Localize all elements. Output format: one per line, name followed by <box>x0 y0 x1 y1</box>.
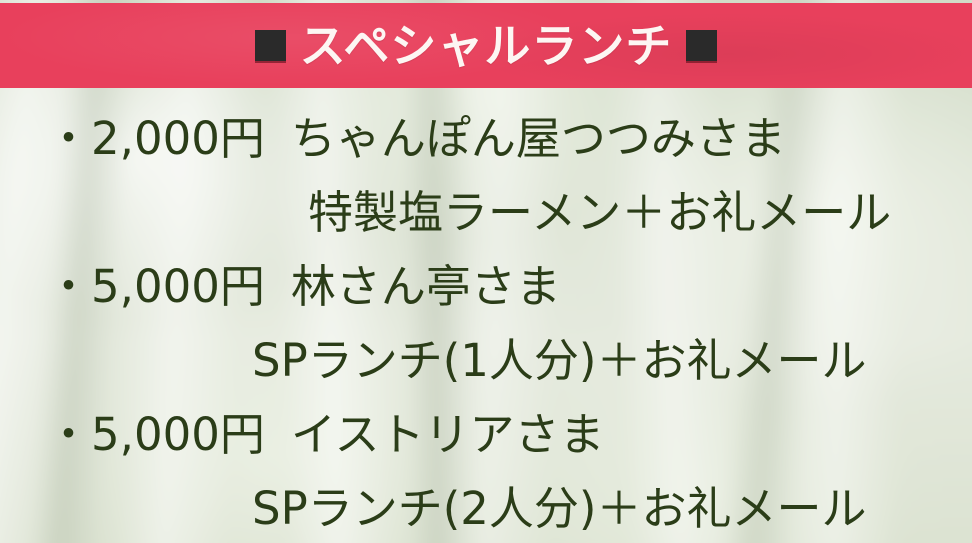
page-title: スペシャルランチ <box>300 23 673 69</box>
entry-3-reward: SPランチ(2人分)＋お礼メール <box>252 482 866 535</box>
title-banner: スペシャルランチ <box>0 3 972 88</box>
slide-canvas: スペシャルランチ ・2,000円ちゃんぽん屋つつみさま 特製塩ラーメン＋お礼メー… <box>0 0 972 543</box>
entry-2-amount-line: ・5,000円林さん亭さま <box>0 250 972 324</box>
entry-1-reward-line: 特製塩ラーメン＋お礼メール <box>0 176 972 250</box>
entry-2-bullet: ・ <box>46 260 91 313</box>
entry-2-amount: 5,000円 <box>91 260 265 313</box>
entry-1-bullet: ・ <box>46 112 91 165</box>
entry-3-amount: 5,000円 <box>91 408 265 461</box>
entry-2-reward: SPランチ(1人分)＋お礼メール <box>252 334 866 387</box>
entry-3-bullet: ・ <box>46 408 91 461</box>
entry-3-amount-line: ・5,000円イストリアさま <box>0 398 972 472</box>
entry-2-reward-line: SPランチ(1人分)＋お礼メール <box>0 324 972 398</box>
entry-3-reward-line: SPランチ(2人分)＋お礼メール <box>0 472 972 543</box>
sponsor-list: ・2,000円ちゃんぽん屋つつみさま 特製塩ラーメン＋お礼メール ・5,000円… <box>0 88 972 543</box>
entry-1-amount: 2,000円 <box>91 112 265 165</box>
title-text-group: スペシャルランチ <box>255 23 718 69</box>
entry-1-reward: 特製塩ラーメン＋お礼メール <box>308 186 891 239</box>
entry-2-sponsor: 林さん亭さま <box>291 260 561 313</box>
black-square-left-icon <box>255 30 286 61</box>
entry-1-amount-line: ・2,000円ちゃんぽん屋つつみさま <box>0 102 972 176</box>
black-square-right-icon <box>686 30 717 61</box>
entry-3-sponsor: イストリアさま <box>291 408 605 461</box>
entry-1-sponsor: ちゃんぽん屋つつみさま <box>291 112 786 165</box>
